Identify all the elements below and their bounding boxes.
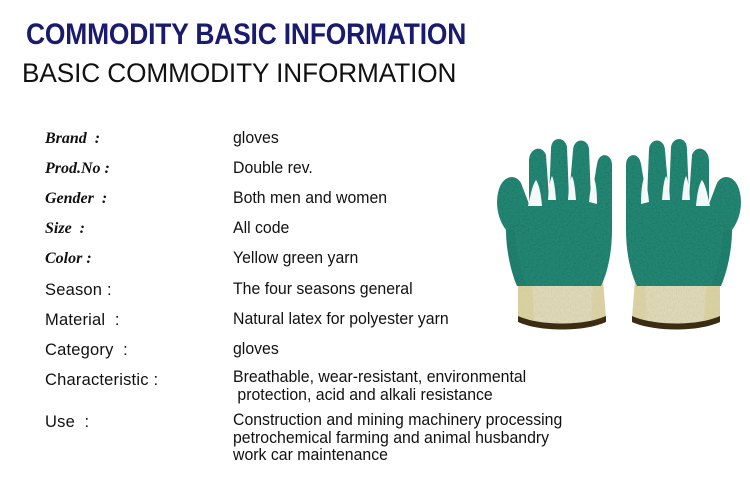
spec-label: Size :	[45, 220, 85, 238]
spec-value: Construction and mining machinery proces…	[233, 412, 562, 465]
spec-label: Prod.No :	[45, 160, 110, 178]
spec-value: Natural latex for polyester yarn	[233, 311, 449, 329]
spec-label: Color :	[45, 250, 92, 268]
spec-label: Characteristic :	[45, 371, 158, 389]
glove-right	[626, 139, 741, 330]
spec-value: All code	[233, 220, 289, 238]
glove-left	[497, 139, 612, 330]
spec-label: Gender :	[45, 190, 107, 208]
spec-label: Brand :	[45, 130, 100, 148]
spec-value: The four seasons general	[233, 281, 413, 299]
product-image-gloves	[488, 132, 750, 332]
spec-value: gloves	[233, 341, 279, 359]
spec-value: Yellow green yarn	[233, 250, 358, 268]
spec-label: Material :	[45, 311, 120, 329]
spec-label: Category :	[45, 341, 128, 359]
spec-label: Season :	[45, 281, 112, 299]
spec-label: Use :	[45, 413, 89, 431]
product-info-page: COMMODITY BASIC INFORMATION BASIC COMMOD…	[0, 0, 750, 482]
spec-value: Double rev.	[233, 160, 313, 178]
spec-value: Breathable, wear-resistant, environmenta…	[233, 369, 526, 404]
gloves-illustration	[488, 132, 750, 332]
spec-value: Both men and women	[233, 190, 387, 208]
spec-value: gloves	[233, 130, 279, 148]
